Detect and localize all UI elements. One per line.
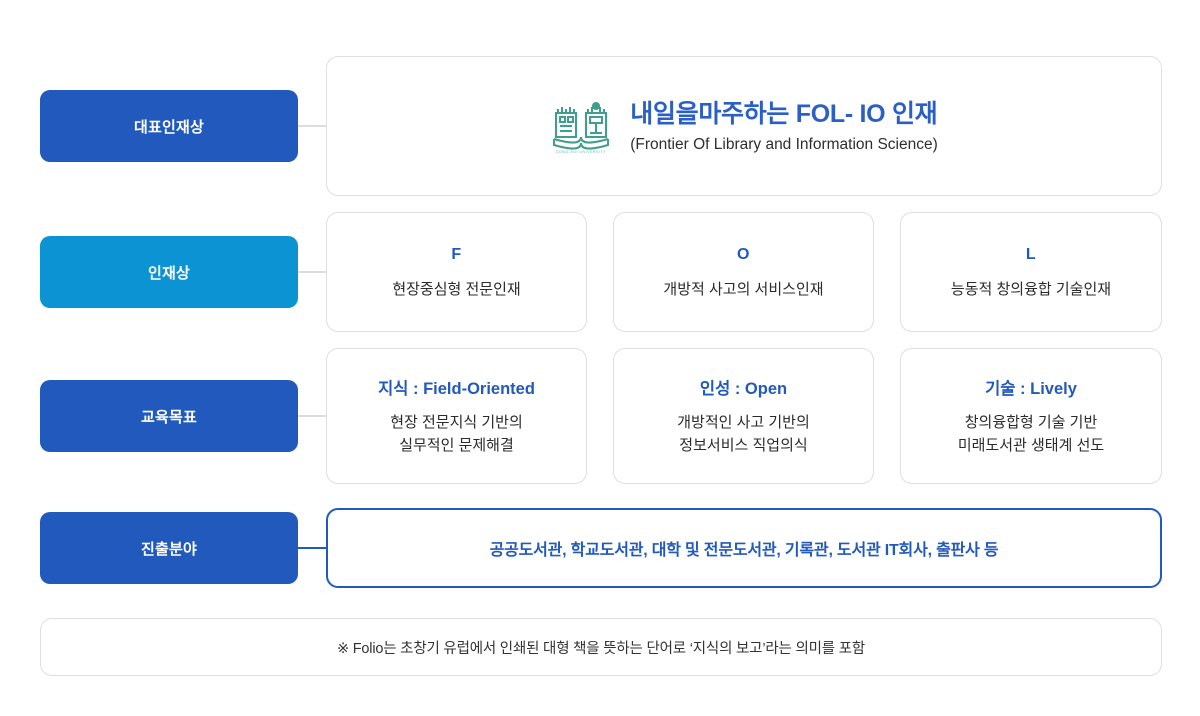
- goal-card-body: 현장 전문지식 기반의 실무적인 문제해결: [390, 412, 523, 457]
- row-label-education-goal: 교육목표: [40, 380, 298, 452]
- talent-card: O 개방적 사고의 서비스인재: [613, 212, 874, 332]
- goal-card: 지식 : Field-Oriented 현장 전문지식 기반의 실무적인 문제해…: [326, 348, 587, 484]
- row-label-talent-profile: 인재상: [40, 236, 298, 308]
- goal-card-line: 정보서비스 직업의식: [679, 437, 807, 454]
- goal-card-body: 개방적인 사고 기반의 정보서비스 직업의식: [677, 412, 810, 457]
- connector-line-goal: [298, 415, 326, 417]
- talent-card-description: 개방적 사고의 서비스인재: [663, 278, 823, 299]
- talent-card: F 현장중심형 전문인재: [326, 212, 587, 332]
- goal-card-heading: 인성 : Open: [700, 375, 787, 399]
- footnote-text: ※ Folio는 초창기 유럽에서 인쇄된 대형 책을 뜻하는 단어로 ‘지식의…: [337, 637, 865, 658]
- talent-card-letter: L: [1026, 246, 1036, 264]
- talent-card-description: 현장중심형 전문인재: [392, 278, 520, 299]
- row-representative-talent: 대표인재상: [0, 56, 1200, 196]
- footnote-panel: ※ Folio는 초창기 유럽에서 인쇄된 대형 책을 뜻하는 단어로 ‘지식의…: [40, 618, 1162, 676]
- row-career-field: 진출분야 공공도서관, 학교도서관, 대학 및 전문도서관, 기록관, 도서관 …: [0, 508, 1200, 588]
- goal-card-group: 지식 : Field-Oriented 현장 전문지식 기반의 실무적인 문제해…: [326, 348, 1162, 484]
- connector-line-talent: [298, 271, 326, 273]
- career-field-text: 공공도서관, 학교도서관, 대학 및 전문도서관, 기록관, 도서관 IT회사,…: [490, 536, 999, 560]
- connector-line-hero: [298, 125, 326, 127]
- svg-text:DONG-EUI UNIVERSITY: DONG-EUI UNIVERSITY: [556, 150, 606, 154]
- talent-model-diagram: 대표인재상: [0, 0, 1200, 716]
- hero-title: 내일을마주하는 FOL- IO 인재: [630, 99, 937, 129]
- hero-panel: DONG-EUI UNIVERSITY 내일을마주하는 FOL- IO 인재 (…: [326, 56, 1162, 196]
- career-field-panel: 공공도서관, 학교도서관, 대학 및 전문도서관, 기록관, 도서관 IT회사,…: [326, 508, 1162, 588]
- goal-card-body: 창의융합형 기술 기반 미래도서관 생태계 선도: [958, 412, 1104, 457]
- talent-card-group: F 현장중심형 전문인재 O 개방적 사고의 서비스인재 L 능동적 창의융합 …: [326, 212, 1162, 332]
- goal-card-line: 개방적인 사고 기반의: [677, 414, 810, 431]
- row-talent-profile: 인재상 F 현장중심형 전문인재 O 개방적 사고의 서비스인재 L 능동적 창…: [0, 212, 1200, 332]
- talent-card: L 능동적 창의융합 기술인재: [900, 212, 1162, 332]
- goal-card-line: 현장 전문지식 기반의: [390, 414, 523, 431]
- goal-card-heading: 지식 : Field-Oriented: [378, 375, 535, 399]
- hero-subtitle: (Frontier Of Library and Information Sci…: [630, 136, 938, 154]
- goal-card-line: 창의융합형 기술 기반: [965, 414, 1098, 431]
- dongeui-university-emblem-icon: DONG-EUI UNIVERSITY: [550, 95, 612, 157]
- talent-card-letter: O: [737, 246, 750, 264]
- goal-card: 인성 : Open 개방적인 사고 기반의 정보서비스 직업의식: [613, 348, 874, 484]
- talent-card-letter: F: [451, 246, 461, 264]
- goal-card-heading: 기술 : Lively: [985, 375, 1077, 399]
- goal-card-line: 미래도서관 생태계 선도: [958, 437, 1104, 454]
- row-label-representative-talent: 대표인재상: [40, 90, 298, 162]
- goal-card: 기술 : Lively 창의융합형 기술 기반 미래도서관 생태계 선도: [900, 348, 1162, 484]
- row-education-goal: 교육목표 지식 : Field-Oriented 현장 전문지식 기반의 실무적…: [0, 348, 1200, 484]
- row-label-career-field: 진출분야: [40, 512, 298, 584]
- goal-card-line: 실무적인 문제해결: [399, 437, 514, 454]
- connector-line-career-field: [298, 547, 326, 549]
- talent-card-description: 능동적 창의융합 기술인재: [951, 278, 1111, 299]
